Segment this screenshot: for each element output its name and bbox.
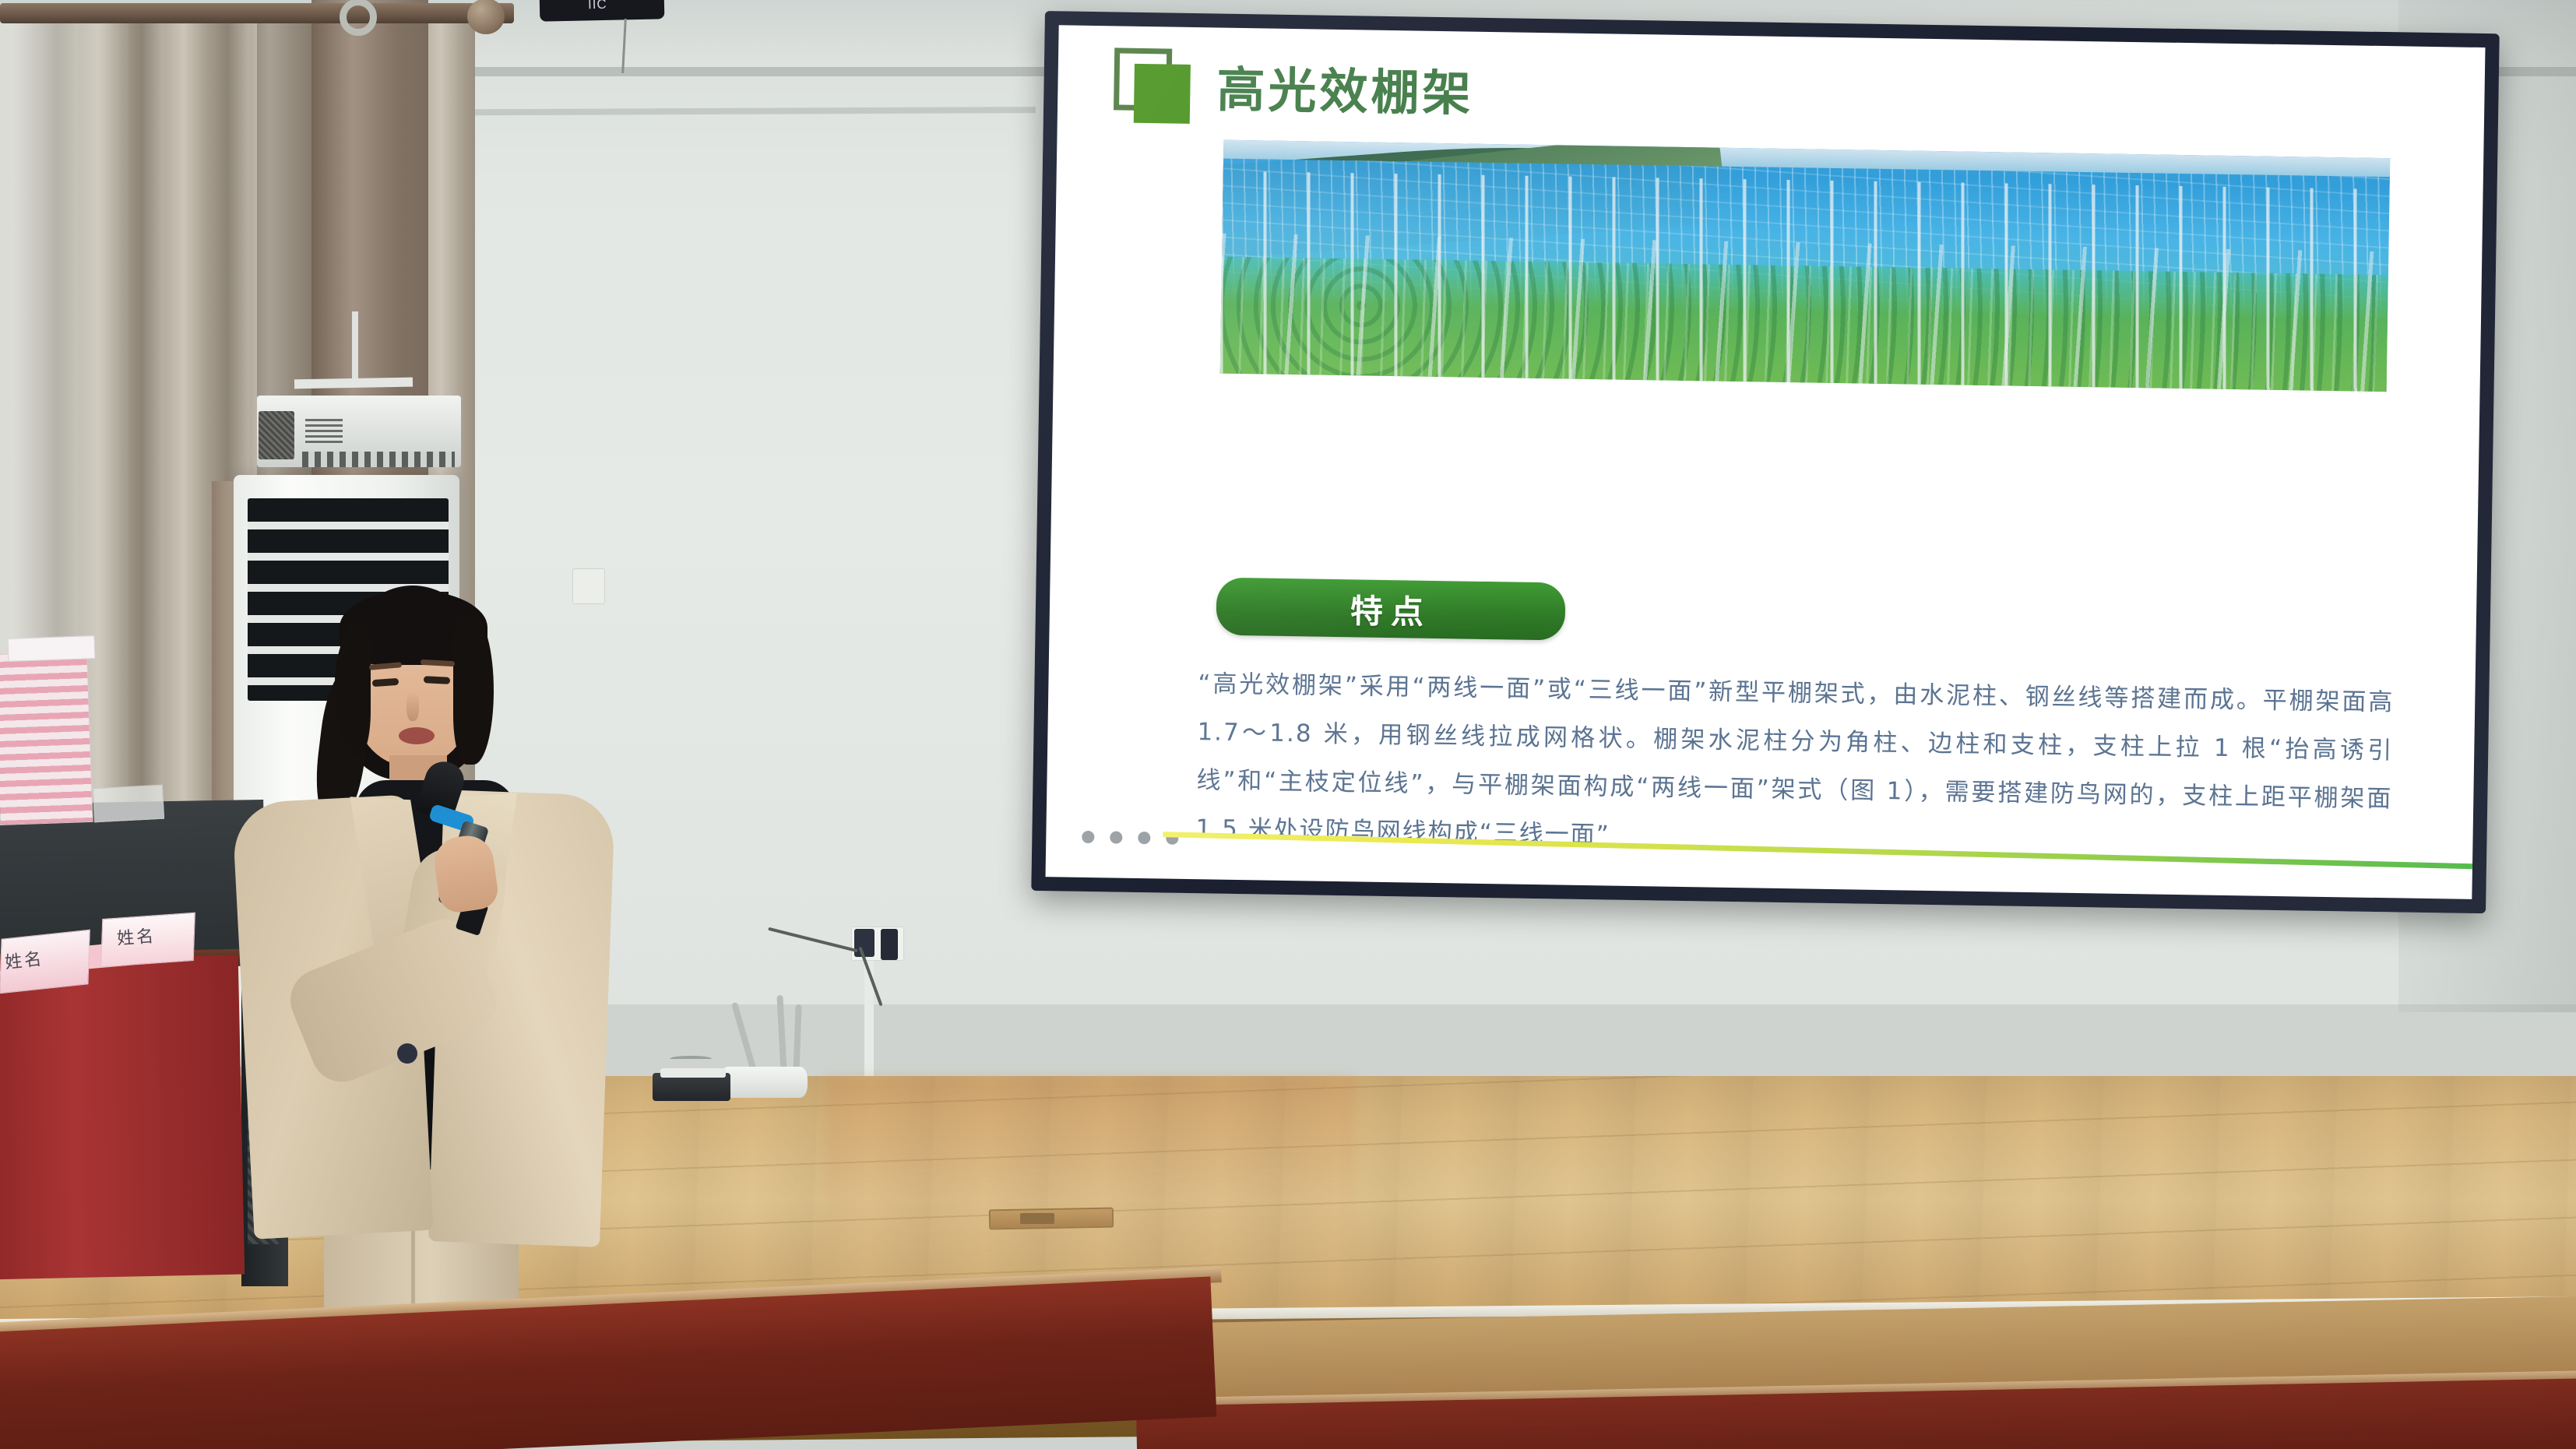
name-placard-right-label: 姓名: [116, 922, 157, 949]
set-top-box-cable: [670, 1056, 712, 1059]
floor-reflection: [825, 1076, 1355, 1271]
speaker-brand-label: IIC: [588, 0, 607, 12]
projector-ports: [302, 452, 455, 467]
feature-badge: 特点: [1216, 578, 1565, 641]
slide-canvas: 高光效棚架 特点 “高光效棚架”采用“两线一面”或“三线一面”新型平棚架式，由水…: [1046, 25, 2486, 899]
curtain-rod: [0, 3, 514, 23]
photo-concrete-posts-far: [1220, 234, 2389, 392]
projector-pole: [352, 311, 358, 386]
pager-dot[interactable]: [1110, 831, 1122, 843]
pager-dot[interactable]: [1082, 831, 1094, 843]
floor-outlet-latch: [1020, 1213, 1054, 1224]
plastic-bag-item: [93, 785, 164, 823]
presenter-blazer-button: [397, 1043, 417, 1064]
projection-screen[interactable]: 高光效棚架 特点 “高光效棚架”采用“两线一面”或“三线一面”新型平棚架式，由水…: [1031, 11, 2500, 913]
projector-vent: [305, 419, 343, 444]
vineyard-trellis-photo: [1220, 140, 2391, 392]
curtain-rod-finial: [467, 0, 505, 34]
slide-header: 高光效棚架: [1114, 43, 1475, 129]
power-adapter-right: [881, 929, 898, 960]
wifi-router: [720, 1067, 808, 1098]
presenter: [202, 576, 639, 1277]
material-stack-top: [8, 635, 96, 662]
slide-title: 高光效棚架: [1216, 50, 1474, 124]
presenter-hair-left: [336, 623, 371, 755]
lecture-hall-scene: IIC 姓名 姓名: [0, 0, 2576, 1449]
presenter-mouth: [399, 727, 435, 744]
power-adapter-left: [854, 929, 875, 957]
presenter-nose: [406, 691, 419, 721]
pager-dot[interactable]: [1138, 832, 1150, 844]
projector-lens-icon: [259, 411, 294, 459]
set-top-box-lid: [660, 1068, 726, 1078]
logo-filled-shape: [1134, 64, 1191, 124]
presenter-eye-right: [424, 676, 450, 684]
material-stack: [0, 651, 93, 825]
feature-badge-label: 特点: [1350, 585, 1432, 634]
router-antenna-1: [731, 1002, 758, 1075]
name-placard-left-label: 姓名: [3, 944, 44, 973]
presenter-hair-right: [453, 617, 494, 765]
green-square-logo-icon: [1114, 43, 1196, 125]
curtain-ring: [340, 0, 377, 36]
router-antenna-2: [776, 995, 787, 1073]
router-antenna-3: [793, 1004, 801, 1074]
